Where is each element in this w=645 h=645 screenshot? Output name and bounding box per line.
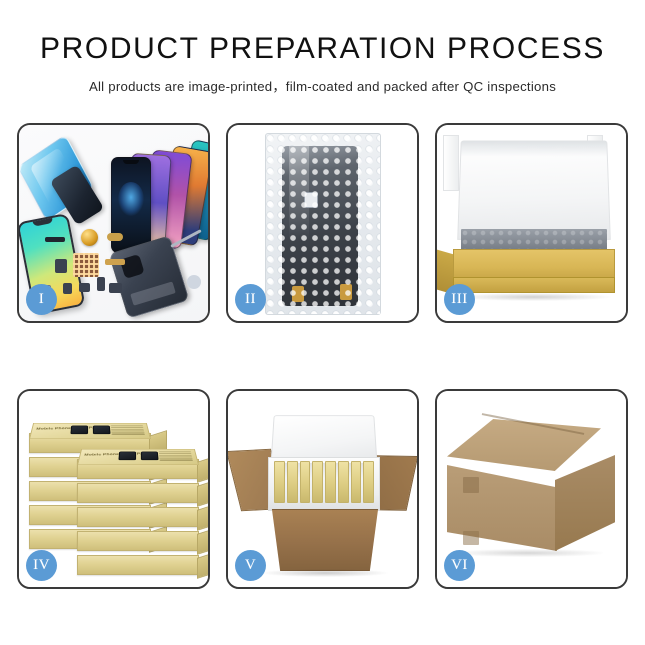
battery-strip-icon <box>130 281 176 305</box>
carton-top-icon <box>447 419 601 471</box>
carton-tab-icon <box>463 477 479 493</box>
step-badge-2: II <box>235 284 266 315</box>
carton-tab-icon <box>463 531 479 545</box>
drop-shadow <box>457 293 611 301</box>
step-card-4: Mobile Phone Spare Parts Mobile Phone Sp… <box>17 389 210 589</box>
step-card-2: II <box>226 123 419 323</box>
part-icon <box>187 275 201 289</box>
step-badge-1: I <box>26 284 57 315</box>
inner-box-icon <box>325 461 336 503</box>
part-icon <box>55 259 67 273</box>
box-side-icon <box>197 528 208 555</box>
box-side-icon <box>197 456 208 483</box>
stacked-box <box>77 555 199 575</box>
inner-box-icon <box>351 461 362 503</box>
speaker-coin-icon <box>81 229 98 246</box>
notch-icon <box>123 160 139 164</box>
connector-icon <box>304 192 318 208</box>
box-stack-group: Mobile Phone Spare Parts Mobile Phone Sp… <box>25 415 205 573</box>
header: PRODUCT PREPARATION PROCESS All products… <box>0 0 645 95</box>
flex-cable-icon <box>340 284 352 300</box>
part-icon <box>105 259 125 265</box>
part-icon <box>109 283 122 293</box>
inner-box-icon <box>274 461 285 503</box>
screen-thumb-icon <box>93 426 111 435</box>
step-card-5: V <box>226 389 419 589</box>
part-icon <box>79 283 90 292</box>
label-text-lines <box>159 452 193 462</box>
chip-grid-icon <box>73 253 99 277</box>
inner-box-front-icon <box>453 277 615 293</box>
drop-shadow <box>262 569 388 577</box>
foam-sheet-icon <box>457 141 611 240</box>
page-subtitle: All products are image-printed，film-coat… <box>0 76 645 95</box>
process-steps-grid: I II <box>17 123 628 589</box>
box-lid-front: Mobile Phone Spare Parts <box>77 449 199 465</box>
flex-cable-icon <box>292 286 304 302</box>
step-badge-6: VI <box>444 550 475 581</box>
camera-module-icon <box>120 254 145 279</box>
stacked-box <box>77 507 199 527</box>
part-icon <box>63 283 72 294</box>
part-icon <box>45 237 65 242</box>
inner-box-icon <box>300 461 311 503</box>
step-card-1: I <box>17 123 210 323</box>
product-preparation-infographic: PRODUCT PREPARATION PROCESS All products… <box>0 0 645 645</box>
stacked-box <box>77 531 199 551</box>
label-screen-thumbnails <box>70 426 115 435</box>
inner-box-icon <box>363 461 374 503</box>
carton-side-icon <box>555 455 615 551</box>
wrapped-screen-icon <box>282 146 358 306</box>
screen-thumb-icon <box>141 452 159 461</box>
bubble-wrap-bag-icon <box>265 133 381 315</box>
inner-box-icon <box>312 461 323 503</box>
inner-boxes-row <box>274 461 374 503</box>
label-screen-thumbnails <box>118 452 163 461</box>
step-badge-5: V <box>235 550 266 581</box>
label-text-lines <box>111 426 145 436</box>
screen-thumb-icon <box>70 426 88 435</box>
carton-body-icon <box>266 509 384 571</box>
step-card-6: VI <box>435 389 628 589</box>
page-title: PRODUCT PREPARATION PROCESS <box>0 33 645 65</box>
step-card-3: III <box>435 123 628 323</box>
box-side-icon <box>197 552 208 579</box>
stacked-box <box>77 483 199 503</box>
inner-box-icon <box>287 461 298 503</box>
step-badge-3: III <box>444 284 475 315</box>
drop-shadow <box>453 549 603 557</box>
inner-box-icon <box>338 461 349 503</box>
screen-thumb-icon <box>118 452 136 461</box>
box-lid-rear: Mobile Phone Spare Parts <box>29 423 151 439</box>
box-flap-left-icon <box>443 135 459 191</box>
part-icon <box>97 277 105 291</box>
box-side-icon <box>197 480 208 507</box>
box-side-icon <box>197 504 208 531</box>
notch-icon <box>33 218 54 227</box>
part-icon <box>107 233 123 241</box>
step-badge-4: IV <box>26 550 57 581</box>
